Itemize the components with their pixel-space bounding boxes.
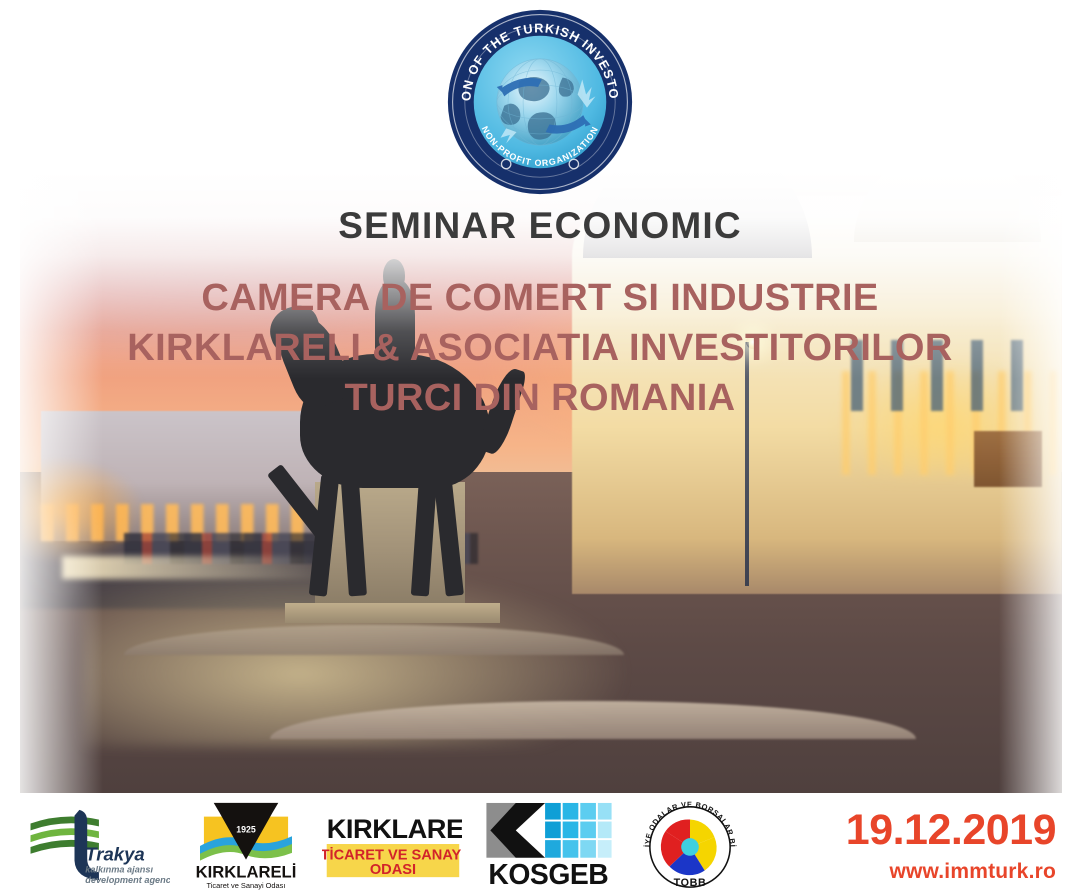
tobb-name: TOBB <box>674 877 707 889</box>
title-block: SEMINAR ECONOMIC CAMERA DE COMERT SI IND… <box>0 206 1080 423</box>
event-date-block: 19.12.2019 www.immturk.ro <box>846 809 1056 884</box>
trakya-sub1: kalkınma ajansı <box>85 864 153 874</box>
ktso-name: KIRKLARELİ <box>327 813 462 844</box>
sponsor-kirklareli-emblem: 1925 KIRKLARELİ Ticaret ve Sanayi Odası <box>192 800 300 890</box>
kosgeb-name: KOSGEB <box>488 859 608 889</box>
sponsor-logo-row: Trakya kalkınma ajansı development agenc… <box>22 798 744 892</box>
sponsor-trakya: Trakya kalkınma ajansı development agenc… <box>22 800 170 890</box>
trakya-name: Trakya <box>85 844 144 865</box>
kirklareli-year: 1925 <box>236 824 256 834</box>
seminar-heading: SEMINAR ECONOMIC <box>0 206 1080 247</box>
trakya-sub2: development agency <box>85 875 170 885</box>
website-url[interactable]: www.immturk.ro <box>846 860 1056 884</box>
sponsor-kirklareli-tso: KIRKLARELİ TİCARET VE SANAYİ ODASI <box>322 800 462 890</box>
subtitle-line-1: CAMERA DE COMERT SI INDUSTRIE <box>60 273 1020 323</box>
sponsor-kosgeb: KOSGEB <box>484 800 614 890</box>
sponsor-tobb: TÜRKİYE ODALAR VE BORSALAR BİRLİĞİ TOBB <box>636 800 744 890</box>
kirklareli-name: KIRKLARELİ <box>196 862 297 881</box>
ktso-sub2: ODASI <box>370 862 416 878</box>
subtitle-line-3: TURCI DIN ROMANIA <box>60 373 1020 423</box>
event-subtitle: CAMERA DE COMERT SI INDUSTRIE KIRKLARELI… <box>0 273 1080 423</box>
subtitle-line-2: KIRKLARELI & ASOCIATIA INVESTITORILOR <box>60 323 1020 373</box>
association-logo: THE ASSOCIATION OF THE TURKISH INVESTORS… <box>446 8 634 196</box>
event-date: 19.12.2019 <box>846 809 1056 852</box>
footer-bar: Trakya kalkınma ajansı development agenc… <box>0 796 1080 896</box>
kosgeb-grid-icon <box>545 803 611 858</box>
ktso-sub1: TİCARET VE SANAYİ <box>322 847 462 864</box>
event-poster: THE ASSOCIATION OF THE TURKISH INVESTORS… <box>0 0 1080 896</box>
kirklareli-sub1: Ticaret ve Sanayi Odası <box>207 881 286 890</box>
